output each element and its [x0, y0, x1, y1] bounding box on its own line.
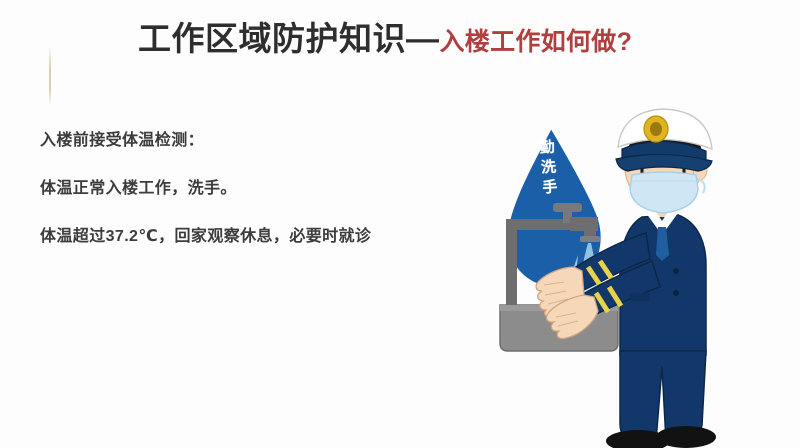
- body-line-1: 入楼前接受体温检测：: [40, 126, 371, 150]
- body-line-2: 体温正常入楼工作，洗手。: [40, 174, 371, 198]
- decorative-accent-rule: [49, 48, 51, 104]
- slide-canvas: 工作区域防护知识—入楼工作如何做? 入楼前接受体温检测： 体温正常入楼工作，洗手…: [0, 0, 800, 448]
- page-title: 工作区域防护知识—入楼工作如何做?: [138, 22, 632, 55]
- page-title-main: 工作区域防护知识—: [138, 20, 440, 57]
- body-line-3: 体温超过37.2℃，回家观察休息，必要时就诊: [40, 222, 371, 246]
- page-title-accent: 入楼工作如何做?: [440, 28, 633, 56]
- handwashing-illustration: 勤洗手: [470, 105, 800, 448]
- body-copy: 入楼前接受体温检测： 体温正常入楼工作，洗手。 体温超过37.2℃，回家观察休息…: [40, 126, 371, 246]
- droplet-label: 勤洗手: [534, 136, 564, 198]
